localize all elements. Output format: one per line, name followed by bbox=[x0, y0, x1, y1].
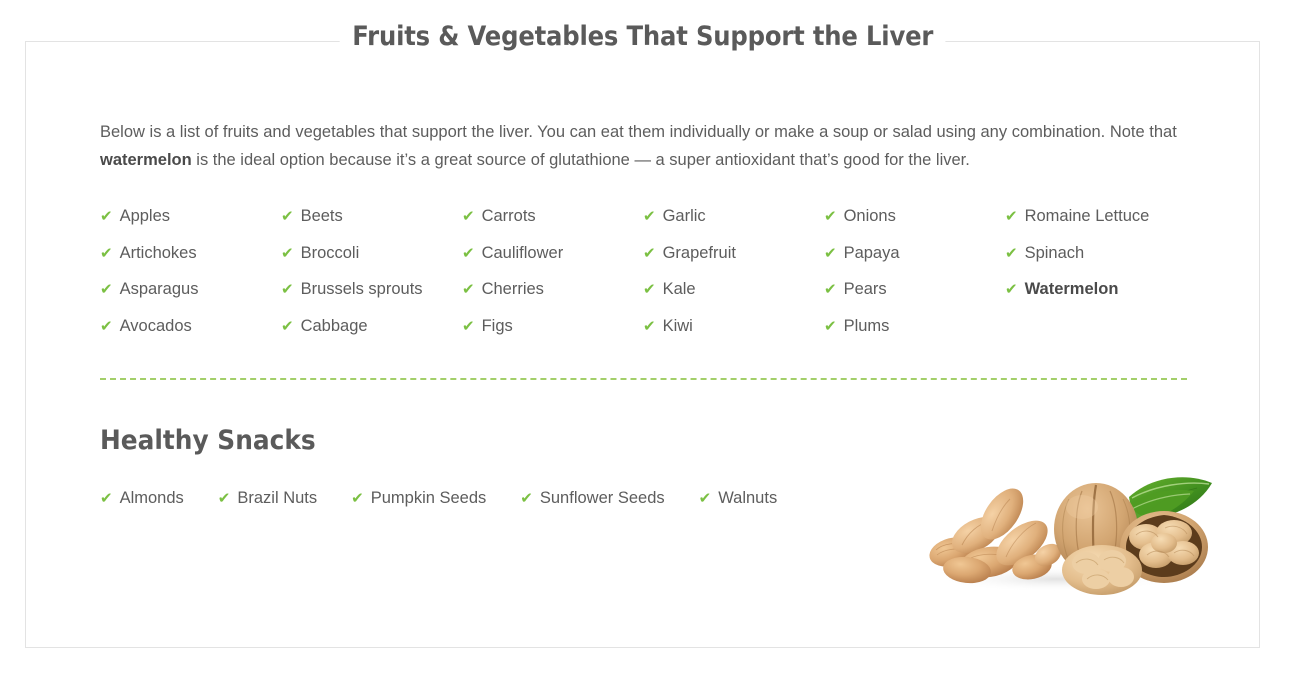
produce-item-label: Beets bbox=[301, 198, 343, 235]
produce-item-label: Pears bbox=[844, 271, 887, 308]
produce-item-label: Kiwi bbox=[663, 308, 693, 345]
produce-item-label: Onions bbox=[844, 198, 896, 235]
produce-item-label: Garlic bbox=[663, 198, 706, 235]
produce-item: ✔Spinach bbox=[1005, 235, 1186, 272]
intro-highlight-watermelon: watermelon bbox=[100, 151, 192, 169]
produce-item-label: Kale bbox=[663, 271, 696, 308]
check-icon: ✔ bbox=[281, 235, 294, 272]
produce-item: ✔Asparagus bbox=[100, 271, 281, 308]
produce-column-3: ✔Carrots✔Cauliflower✔Cherries✔Figs bbox=[462, 198, 643, 344]
check-icon: ✔ bbox=[100, 198, 113, 235]
produce-item-label: Watermelon bbox=[1025, 271, 1119, 308]
check-icon: ✔ bbox=[462, 271, 475, 308]
intro-paragraph: Below is a list of fruits and vegetables… bbox=[100, 118, 1180, 174]
page-root: Fruits & Vegetables That Support the Liv… bbox=[0, 0, 1300, 684]
produce-item-label: Grapefruit bbox=[663, 235, 736, 272]
intro-text-part-1: Below is a list of fruits and vegetables… bbox=[100, 123, 1177, 141]
produce-item: ✔Romaine Lettuce bbox=[1005, 198, 1186, 235]
liver-foods-card: Fruits & Vegetables That Support the Liv… bbox=[25, 41, 1260, 648]
check-icon: ✔ bbox=[699, 486, 712, 510]
produce-item-label: Romaine Lettuce bbox=[1025, 198, 1150, 235]
snack-item: ✔Sunflower Seeds bbox=[520, 486, 664, 510]
produce-column-4: ✔Garlic✔Grapefruit✔Kale✔Kiwi bbox=[643, 198, 824, 344]
check-icon: ✔ bbox=[824, 235, 837, 272]
produce-item-label: Figs bbox=[482, 308, 513, 345]
produce-item-label: Cherries bbox=[482, 271, 544, 308]
produce-item-label: Asparagus bbox=[120, 271, 199, 308]
check-icon: ✔ bbox=[100, 308, 113, 345]
check-icon: ✔ bbox=[520, 486, 533, 510]
check-icon: ✔ bbox=[643, 235, 656, 272]
card-title: Fruits & Vegetables That Support the Liv… bbox=[26, 20, 1259, 54]
produce-column-2: ✔Beets✔Broccoli✔Brussels sprouts✔Cabbage bbox=[281, 198, 462, 344]
check-icon: ✔ bbox=[351, 486, 364, 510]
produce-item: ✔Papaya bbox=[824, 235, 1005, 272]
section-divider bbox=[100, 378, 1187, 380]
produce-item-label: Brussels sprouts bbox=[301, 271, 423, 308]
check-icon: ✔ bbox=[100, 235, 113, 272]
check-icon: ✔ bbox=[100, 271, 113, 308]
produce-item-label: Carrots bbox=[482, 198, 536, 235]
produce-item: ✔Cauliflower bbox=[462, 235, 643, 272]
snack-item: ✔Walnuts bbox=[699, 486, 778, 510]
snack-item-label: Walnuts bbox=[718, 486, 777, 510]
snack-item: ✔Pumpkin Seeds bbox=[351, 486, 486, 510]
check-icon: ✔ bbox=[643, 308, 656, 345]
produce-item: ✔Grapefruit bbox=[643, 235, 824, 272]
check-icon: ✔ bbox=[100, 486, 113, 510]
check-icon: ✔ bbox=[218, 486, 231, 510]
produce-item-label: Cabbage bbox=[301, 308, 368, 345]
produce-item: ✔Apples bbox=[100, 198, 281, 235]
produce-column-6: ✔Romaine Lettuce✔Spinach✔Watermelon✔ bbox=[1005, 198, 1186, 344]
produce-item: ✔Watermelon bbox=[1005, 271, 1186, 308]
check-icon: ✔ bbox=[824, 271, 837, 308]
snack-item: ✔Almonds bbox=[100, 486, 184, 510]
produce-item: ✔Cherries bbox=[462, 271, 643, 308]
produce-item: ✔Kale bbox=[643, 271, 824, 308]
produce-item: ✔Artichokes bbox=[100, 235, 281, 272]
intro-text-part-2: is the ideal option because it’s a great… bbox=[192, 151, 970, 169]
produce-list-grid: ✔Apples✔Artichokes✔Asparagus✔Avocados✔Be… bbox=[100, 198, 1187, 344]
produce-item-label: Apples bbox=[120, 198, 170, 235]
snack-item-label: Brazil Nuts bbox=[237, 486, 317, 510]
check-icon: ✔ bbox=[1005, 198, 1018, 235]
produce-item: ✔Figs bbox=[462, 308, 643, 345]
produce-item-label: Avocados bbox=[120, 308, 192, 345]
check-icon: ✔ bbox=[643, 198, 656, 235]
snack-item-label: Almonds bbox=[120, 486, 184, 510]
produce-item-label: Artichokes bbox=[120, 235, 197, 272]
check-icon: ✔ bbox=[643, 271, 656, 308]
produce-item: ✔Avocados bbox=[100, 308, 281, 345]
produce-item: ✔Beets bbox=[281, 198, 462, 235]
check-icon: ✔ bbox=[281, 308, 294, 345]
produce-item: ✔Kiwi bbox=[643, 308, 824, 345]
snack-item: ✔Brazil Nuts bbox=[218, 486, 317, 510]
produce-item-label: Broccoli bbox=[301, 235, 360, 272]
check-icon: ✔ bbox=[824, 198, 837, 235]
produce-item: ✔Carrots bbox=[462, 198, 643, 235]
page-title: Fruits & Vegetables That Support the Liv… bbox=[339, 20, 945, 54]
check-icon: ✔ bbox=[462, 235, 475, 272]
check-icon: ✔ bbox=[281, 271, 294, 308]
produce-item: ✔Plums bbox=[824, 308, 1005, 345]
check-icon: ✔ bbox=[1005, 235, 1018, 272]
produce-item: ✔Garlic bbox=[643, 198, 824, 235]
produce-item-label: Plums bbox=[844, 308, 890, 345]
snack-item-label: Pumpkin Seeds bbox=[371, 486, 487, 510]
snack-item-label: Sunflower Seeds bbox=[540, 486, 665, 510]
produce-column-5: ✔Onions✔Papaya✔Pears✔Plums bbox=[824, 198, 1005, 344]
check-icon: ✔ bbox=[462, 308, 475, 345]
check-icon: ✔ bbox=[462, 198, 475, 235]
produce-item: ✔Brussels sprouts bbox=[281, 271, 462, 308]
produce-item-label: Papaya bbox=[844, 235, 900, 272]
check-icon: ✔ bbox=[1005, 271, 1018, 308]
produce-item: ✔Onions bbox=[824, 198, 1005, 235]
produce-item: ✔Broccoli bbox=[281, 235, 462, 272]
check-icon: ✔ bbox=[281, 198, 294, 235]
almonds-and-walnuts-photo bbox=[906, 467, 1226, 597]
produce-item-label: Cauliflower bbox=[482, 235, 564, 272]
healthy-snacks-heading: Healthy Snacks bbox=[100, 424, 1100, 458]
produce-item-label: Spinach bbox=[1025, 235, 1085, 272]
produce-column-1: ✔Apples✔Artichokes✔Asparagus✔Avocados bbox=[100, 198, 281, 344]
card-body: Below is a list of fruits and vegetables… bbox=[100, 118, 1187, 510]
produce-item: ✔Pears bbox=[824, 271, 1005, 308]
produce-item: ✔Cabbage bbox=[281, 308, 462, 345]
check-icon: ✔ bbox=[824, 308, 837, 345]
